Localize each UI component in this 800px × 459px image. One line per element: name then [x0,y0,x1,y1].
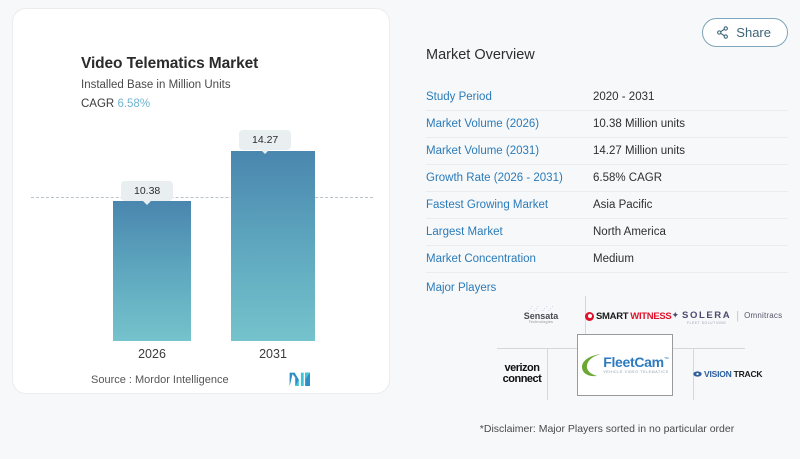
row-key: Fastest Growing Market [426,199,593,211]
bar-chart-plot: 10.38 14.27 2026 2031 [13,9,391,395]
row-key: Study Period [426,91,593,103]
screenshot-root: Video Telematics Market Installed Base i… [0,0,800,459]
fleetcam-name: FleetCam [603,354,664,370]
share-nodes-icon [716,26,729,39]
market-overview-table: Study Period 2020 - 2031 Market Volume (… [426,84,788,303]
logo-verizon-connect: verizon connect [497,354,547,394]
table-row: Market Concentration Medium [426,246,788,273]
table-row: Growth Rate (2026 - 2031) 6.58% CAGR [426,165,788,192]
row-key: Market Volume (2026) [426,118,593,130]
row-key: Largest Market [426,226,593,238]
bar-2031[interactable] [231,151,315,341]
logo-smartwitness: SMARTWITNESS [585,296,671,336]
market-overview-title: Market Overview [426,47,535,63]
table-row: Fastest Growing Market Asia Pacific [426,192,788,219]
visiontrack-part1: VISION [704,369,732,379]
visiontrack-part2: TRACK [734,369,763,379]
reference-dashed-line [31,197,373,198]
major-players-label: Major Players [426,282,593,294]
smartwitness-part2: WITNESS [630,311,671,322]
table-row: Market Volume (2031) 14.27 Million units [426,138,788,165]
row-key: Growth Rate (2026 - 2031) [426,172,593,184]
x-axis-label-2031: 2031 [231,347,315,361]
table-row: Market Volume (2026) 10.38 Million units [426,111,788,138]
logo-separator: | [736,310,739,322]
logo-visiontrack: VISIONTRACK [693,354,762,394]
table-row: Largest Market North America [426,219,788,246]
row-value: 10.38 Million units [593,118,685,130]
solera-mark-icon: ✦ [671,310,679,321]
row-value: Medium [593,253,634,265]
connect-name: connect [503,374,542,385]
sensata-tagline: Technologies [524,321,559,325]
logo-row-top: ⋰⋰ ⋰⋰ Sensata Technologies SMARTWITNESS … [497,296,745,336]
mordor-intelligence-logo [289,371,317,387]
smartwitness-part1: SMART [596,311,628,322]
fleetcam-swoosh-icon [581,352,603,378]
bar-value-label-2031: 14.27 [239,130,291,150]
solera-tagline: FLEET SOLUTIONS [682,322,731,325]
solera-name: SOLERA [682,310,731,321]
row-value: 14.27 Million units [593,145,685,157]
disclaimer-text: *Disclaimer: Major Players sorted in no … [426,423,788,435]
table-row: Study Period 2020 - 2031 [426,84,788,111]
row-value: 2020 - 2031 [593,91,654,103]
source-attribution: Source : Mordor Intelligence [91,374,229,386]
row-value: 6.58% CAGR [593,172,662,184]
logo-fleetcam: FleetCam™ VEHICLE VIDEO TELEMATICS [577,334,673,396]
row-value: North America [593,226,666,238]
logo-solera-omnitracs: ✦ SOLERA FLEET SOLUTIONS | Omnitracs [671,296,782,336]
visiontrack-eye-icon [693,371,702,377]
bar-2026[interactable] [113,201,191,341]
row-value: Asia Pacific [593,199,652,211]
share-button-label: Share [736,25,771,40]
share-button[interactable]: Share [702,18,788,47]
major-players-logos: ⋰⋰ ⋰⋰ Sensata Technologies SMARTWITNESS … [497,296,745,404]
omnitracs-name: Omnitracs [744,311,782,320]
x-axis-label-2026: 2026 [113,347,191,361]
chart-card: Video Telematics Market Installed Base i… [12,8,390,394]
bar-value-label-2026: 10.38 [121,181,173,201]
logo-sensata: ⋰⋰ ⋰⋰ Sensata Technologies [497,296,585,336]
smartwitness-lens-icon [585,312,594,321]
fleetcam-tagline: VEHICLE VIDEO TELEMATICS [603,371,669,375]
row-key: Market Concentration [426,253,593,265]
row-key: Market Volume (2031) [426,145,593,157]
